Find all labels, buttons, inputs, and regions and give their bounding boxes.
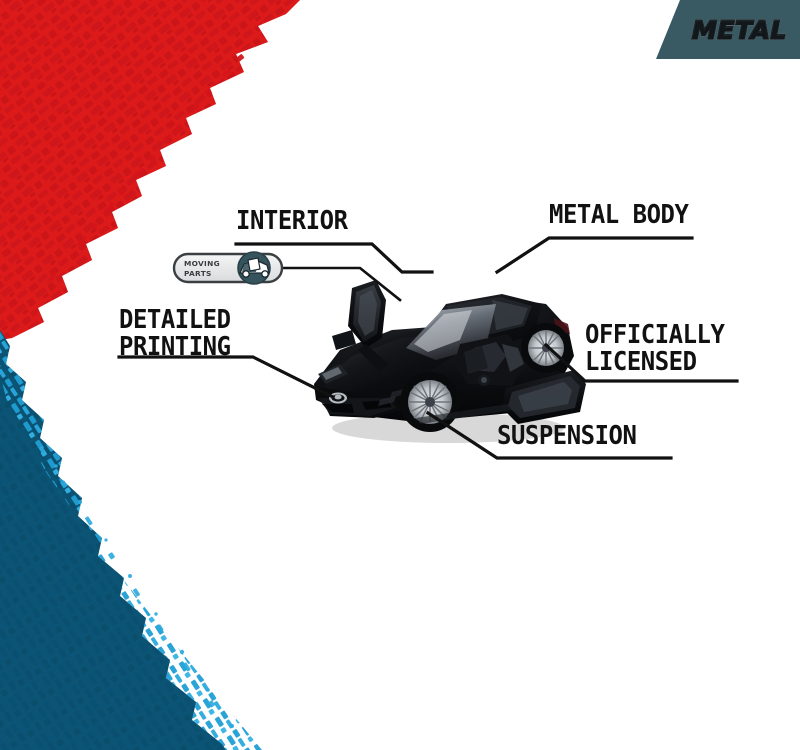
moving-parts-line-1: MOVING [184, 259, 220, 268]
callout-detailed-printing-line-2: PRINTING [119, 334, 231, 361]
callout-officially-licensed-line-2: LICENSED [585, 349, 724, 376]
car-open-door-icon [238, 252, 270, 284]
leader-detailed-printing [119, 357, 333, 397]
leader-metal-body [497, 238, 692, 272]
moving-parts-line-2: PARTS [184, 269, 212, 278]
callout-suspension-line-1: SUSPENSION [497, 423, 636, 450]
callout-suspension: SUSPENSION [497, 423, 649, 450]
leader-moving-parts [284, 268, 400, 300]
callout-detailed-printing: DETAILED PRINTING [119, 307, 240, 360]
callout-interior-line-1: INTERIOR [236, 208, 348, 235]
infographic-canvas: METAL [0, 0, 800, 750]
callout-interior: INTERIOR [236, 208, 357, 235]
callout-metal-body-line-1: METAL BODY [549, 202, 688, 229]
callout-detailed-printing-line-1: DETAILED [119, 307, 231, 334]
callout-officially-licensed-line-1: OFFICIALLY [585, 322, 724, 349]
callout-officially-licensed: OFFICIALLY LICENSED [585, 322, 737, 375]
moving-parts-badge: MOVING PARTS [172, 251, 284, 285]
callout-metal-body: METAL BODY [549, 202, 701, 229]
